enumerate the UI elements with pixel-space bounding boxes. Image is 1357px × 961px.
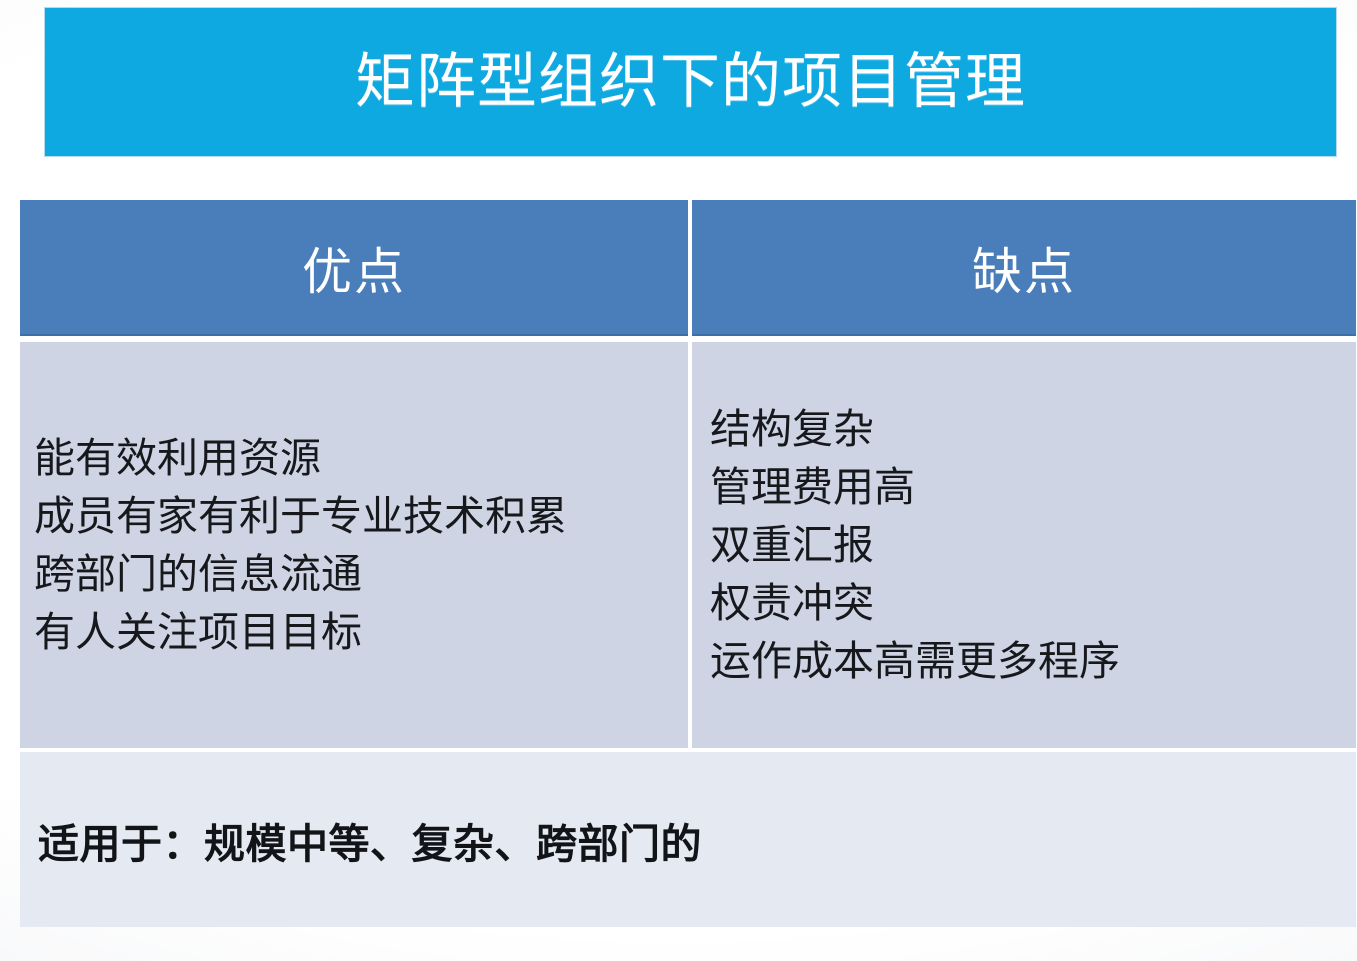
header-label-advantages: 优点	[302, 232, 406, 304]
title-banner: 矩阵型组织下的项目管理	[45, 8, 1336, 156]
table-body-row: 能有效利用资源 成员有家有利于专业技术积累 跨部门的信息流通 有人关注项目目标 …	[20, 342, 1356, 748]
list-item: 有人关注项目目标	[34, 603, 674, 661]
slide-canvas: 矩阵型组织下的项目管理 优点 缺点 能有效利用资源 成员有家有利于专业技术积累 …	[0, 0, 1357, 961]
applicability-text: 适用于：规模中等、复杂、跨部门的	[38, 810, 702, 870]
body-cell-advantages: 能有效利用资源 成员有家有利于专业技术积累 跨部门的信息流通 有人关注项目目标	[20, 342, 688, 748]
list-item: 能有效利用资源	[34, 429, 674, 487]
list-item: 成员有家有利于专业技术积累	[34, 487, 674, 545]
table-footer-row: 适用于：规模中等、复杂、跨部门的	[20, 752, 1356, 927]
header-label-disadvantages: 缺点	[972, 232, 1076, 304]
list-item: 权责冲突	[710, 574, 1342, 632]
list-item: 跨部门的信息流通	[34, 545, 674, 603]
body-cell-disadvantages: 结构复杂 管理费用高 双重汇报 权责冲突 运作成本高需更多程序	[692, 342, 1356, 748]
list-item: 运作成本高需更多程序	[710, 632, 1342, 690]
list-item: 管理费用高	[710, 458, 1342, 516]
slide-title: 矩阵型组织下的项目管理	[355, 51, 1026, 114]
table-header-row: 优点 缺点	[20, 200, 1356, 336]
list-item: 双重汇报	[710, 516, 1342, 574]
header-cell-disadvantages: 缺点	[692, 200, 1356, 336]
comparison-table: 优点 缺点 能有效利用资源 成员有家有利于专业技术积累 跨部门的信息流通 有人关…	[20, 200, 1356, 927]
list-item: 结构复杂	[710, 400, 1342, 458]
header-cell-advantages: 优点	[20, 200, 688, 336]
